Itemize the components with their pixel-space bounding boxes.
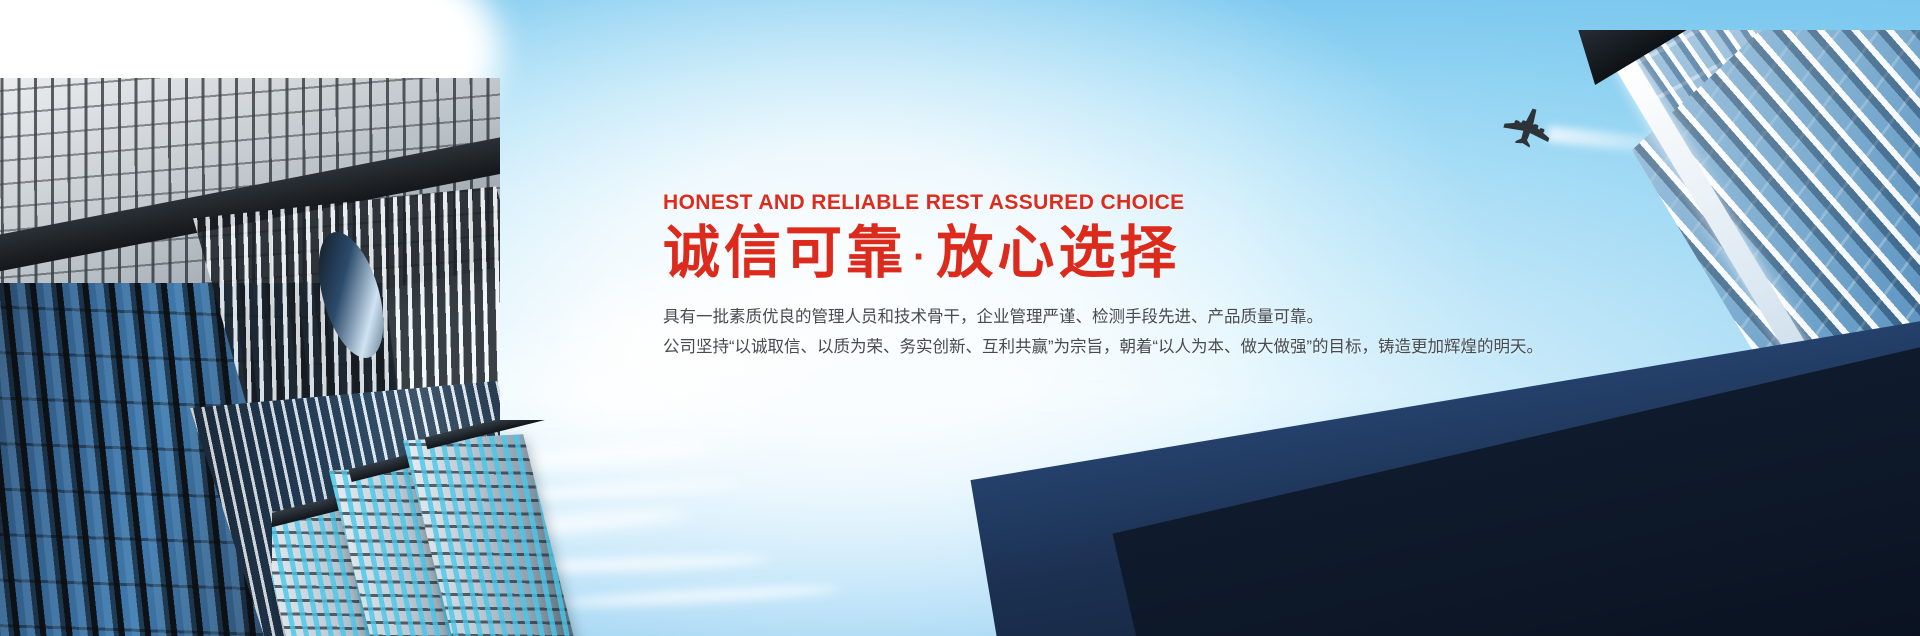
body-line-1: 具有一批素质优良的管理人员和技术骨干，企业管理严谨、检测手段先进、产品质量可靠。 [663,302,1443,332]
headline-part-left: 诚信可靠 [663,221,907,285]
body-line-2: 公司坚持“以诚取信、以质为荣、务实创新、互利共赢”为宗旨，朝着“以人为本、做大做… [663,332,1443,362]
hero-banner: HONEST AND RELIABLE REST ASSURED CHOICE … [0,0,1920,636]
stepped-secondary-tower [272,420,602,636]
headline-part-right: 放心选择 [936,221,1180,285]
headline-separator: · [907,235,936,279]
hero-copy-block: HONEST AND RELIABLE REST ASSURED CHOICE … [663,190,1443,362]
english-tagline: HONEST AND RELIABLE REST ASSURED CHOICE [663,190,1443,215]
page-title: 诚信可靠·放心选择 [663,222,1443,286]
